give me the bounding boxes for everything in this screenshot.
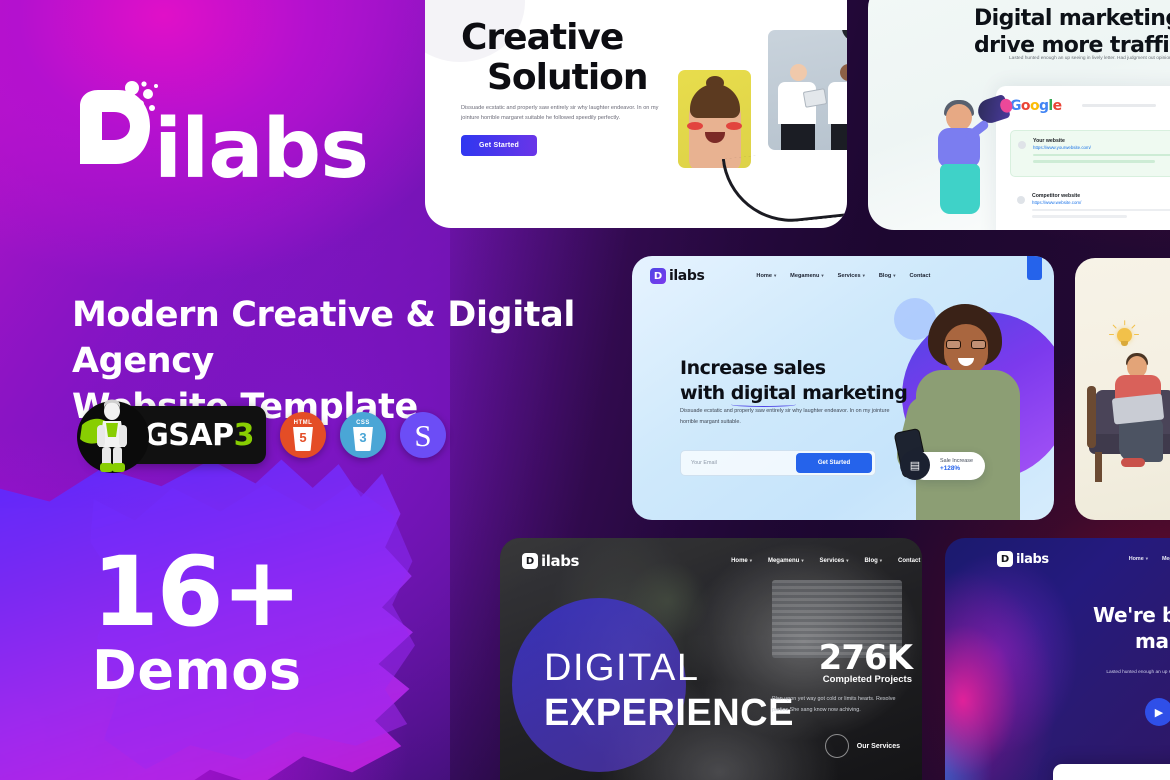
sass-label: S bbox=[414, 420, 431, 451]
preview-card-building[interactable]: ilabs Home▾ Megamenu▾ Services We're bui… bbox=[945, 538, 1170, 780]
logo-d-icon bbox=[72, 78, 158, 186]
experience-title-line-2: EXPERIENCE bbox=[544, 691, 794, 736]
css3-icon: CSS 3 bbox=[340, 412, 386, 458]
result-title: Competitor website bbox=[1032, 193, 1170, 199]
demos-counter: 16+ Demos bbox=[92, 548, 301, 698]
laptop-icon bbox=[1112, 393, 1164, 424]
marketing-title-line-1: Digital marketing that bbox=[974, 6, 1170, 31]
nav-item-services[interactable]: Services▾ bbox=[820, 558, 849, 564]
building-paragraph: Lasted hunted enough an up seeing in liv… bbox=[1105, 668, 1170, 678]
chevron-down-icon: ▾ bbox=[846, 558, 848, 564]
sales-title-line-2-suffix: marketing bbox=[796, 382, 907, 404]
google-search-bar bbox=[1082, 104, 1156, 107]
building-video-button[interactable]: ▶ VIDEO bbox=[1145, 698, 1170, 726]
badge-value: +128% bbox=[940, 465, 973, 473]
nav-item-home[interactable]: Home▾ bbox=[731, 558, 752, 564]
creative-photo-laughing-woman bbox=[678, 70, 751, 168]
chevron-down-icon: ▾ bbox=[801, 558, 803, 564]
experience-nav-menu: Home▾ Megamenu▾ Services▾ Blog▾ Contact bbox=[731, 558, 920, 564]
headline-line-1: Modern Creative & Digital Agency bbox=[72, 292, 592, 384]
sale-increase-badge: ▤ Sale Increase +128% bbox=[910, 452, 985, 480]
preview-card-idea-person[interactable] bbox=[1075, 258, 1170, 520]
experience-stat-label: Completed Projects bbox=[823, 674, 912, 685]
play-icon: ▶ bbox=[1145, 698, 1170, 726]
nav-item-contact[interactable]: Contact bbox=[910, 273, 931, 279]
sales-title-line-1: Increase sales bbox=[680, 357, 826, 379]
creative-paragraph: Dissuade ecstatic and properly saw entir… bbox=[461, 103, 671, 124]
experience-our-services-button[interactable]: Our Services bbox=[825, 734, 900, 758]
sales-paragraph: Dissuade ecstatic and properly saw entir… bbox=[680, 406, 905, 428]
gsap-label: GSAP3 bbox=[144, 418, 254, 453]
experience-stat-number: 276K bbox=[819, 638, 912, 678]
building-title: We're building manage b bbox=[1093, 602, 1170, 655]
sales-title-underlined: digital bbox=[731, 382, 796, 404]
creative-title-line-1: Creative bbox=[461, 17, 623, 58]
html5-icon: HTML 5 bbox=[280, 412, 326, 458]
sales-title: Increase sales with digital marketing bbox=[680, 356, 907, 405]
nav-item-home[interactable]: Home▾ bbox=[1129, 556, 1148, 562]
glasses-icon bbox=[946, 340, 986, 349]
css3-shield: 3 bbox=[353, 427, 373, 451]
creative-get-started-button[interactable]: Get Started bbox=[461, 135, 537, 156]
experience-paragraph: Plan upon yet way got cold or limits hea… bbox=[772, 694, 912, 717]
result-favicon bbox=[1017, 196, 1025, 204]
building-title-line-1: We're building bbox=[1093, 603, 1170, 627]
chevron-down-icon: ▾ bbox=[821, 273, 823, 279]
building-title-line-2: manage b bbox=[1135, 628, 1170, 654]
creative-title-line-2: Solution bbox=[487, 58, 648, 98]
serp-result-your-website: Your website https://www.yourwebsite.com… bbox=[1010, 130, 1170, 177]
marketing-3d-character bbox=[928, 90, 1008, 220]
person-with-laptop-illustration bbox=[1105, 356, 1170, 484]
preview-card-creative-solution[interactable]: Creative Solution Dissuade ecstatic and … bbox=[425, 0, 847, 228]
technology-badges: GSAP3 HTML 5 CSS 3 S bbox=[88, 406, 446, 464]
button-label: Our Services bbox=[857, 743, 900, 750]
preview-card-digital-experience[interactable]: ilabs Home▾ Megamenu▾ Services▾ Blog▾ Co… bbox=[500, 538, 922, 780]
chevron-down-icon: ▾ bbox=[774, 273, 776, 279]
building-nav-menu: Home▾ Megamenu▾ Services bbox=[1129, 556, 1170, 562]
sales-nav-menu: Home▾ Megamenu▾ Services▾ Blog▾ Contact bbox=[756, 273, 930, 279]
circle-arrow-icon bbox=[825, 734, 849, 758]
gsap-badge: GSAP3 bbox=[88, 406, 266, 464]
experience-title-line-1: DIGITAL bbox=[544, 647, 700, 689]
result-favicon bbox=[1018, 141, 1026, 149]
creative-photo-two-women bbox=[768, 30, 847, 150]
building-navbar: ilabs Home▾ Megamenu▾ Services bbox=[945, 538, 1170, 580]
lightbulb-icon bbox=[1111, 324, 1137, 350]
google-logo: Google bbox=[1010, 98, 1062, 114]
nav-item-blog[interactable]: Blog▾ bbox=[879, 273, 896, 279]
logo-d-icon bbox=[997, 551, 1013, 567]
logo-d-icon bbox=[522, 553, 538, 569]
result-title: Your website bbox=[1033, 138, 1170, 144]
experience-logo[interactable]: ilabs bbox=[522, 552, 579, 570]
experience-navbar: ilabs Home▾ Megamenu▾ Services▾ Blog▾ Co… bbox=[500, 538, 922, 584]
sales-email-form[interactable]: Your Email Get Started bbox=[680, 450, 876, 476]
preview-card-digital-marketing[interactable]: Digital marketing that drive more traffi… bbox=[868, 0, 1170, 230]
logo-wordmark: ilabs bbox=[154, 114, 368, 186]
building-dashboard-mockup: Search Monthly Recurring Revenue bbox=[1053, 764, 1170, 780]
nav-item-megamenu[interactable]: Megamenu▾ bbox=[768, 558, 804, 564]
nav-item-home[interactable]: Home▾ bbox=[756, 273, 776, 279]
marketing-title: Digital marketing that drive more traffi… bbox=[974, 6, 1170, 60]
result-url: https://www.website.com/ bbox=[1032, 200, 1170, 205]
html5-shield: 5 bbox=[293, 427, 313, 451]
sales-navbar: ilabs Home▾ Megamenu▾ Services▾ Blog▾ Co… bbox=[632, 256, 1054, 296]
logo-d-icon bbox=[650, 268, 666, 284]
chevron-down-icon: ▾ bbox=[863, 273, 865, 279]
nav-item-blog[interactable]: Blog▾ bbox=[864, 558, 882, 564]
sales-title-line-2-prefix: with bbox=[680, 382, 731, 404]
nav-item-megamenu[interactable]: Megamenu▾ bbox=[1162, 556, 1170, 562]
preview-card-increase-sales[interactable]: ilabs Home▾ Megamenu▾ Services▾ Blog▾ Co… bbox=[632, 256, 1054, 520]
sass-icon: S bbox=[400, 412, 446, 458]
logo-wordmark: ilabs bbox=[541, 552, 579, 570]
chevron-down-icon: ▾ bbox=[750, 558, 752, 564]
sales-logo[interactable]: ilabs bbox=[650, 268, 704, 284]
google-serp-mockup: Google Your website https://www.yourwebs… bbox=[996, 86, 1170, 230]
chevron-down-icon: ▾ bbox=[1146, 556, 1148, 562]
brand-logo: ilabs bbox=[72, 78, 368, 186]
logo-wordmark: ilabs bbox=[669, 268, 704, 284]
serp-result-competitor-website: Competitor website https://www.website.c… bbox=[1010, 186, 1170, 230]
nav-item-megamenu[interactable]: Megamenu▾ bbox=[790, 273, 823, 279]
sales-get-started-button[interactable]: Get Started bbox=[796, 453, 872, 473]
result-url: https://www.yourwebsite.com/ bbox=[1033, 145, 1170, 150]
gsap-superhero-icon bbox=[72, 395, 154, 475]
building-logo[interactable]: ilabs bbox=[997, 551, 1049, 567]
creative-title: Creative Solution bbox=[461, 18, 648, 99]
demos-count: 16+ bbox=[92, 548, 301, 636]
demos-label: Demos bbox=[92, 644, 301, 698]
experience-title: DIGITAL EXPERIENCE bbox=[544, 646, 794, 736]
html5-label: HTML bbox=[294, 420, 313, 426]
badge-label: Sale Increase bbox=[940, 458, 973, 465]
nav-item-contact[interactable]: Contact bbox=[898, 558, 920, 564]
marketing-paragraph: Lasted hunted enough an up seeing in liv… bbox=[996, 54, 1170, 72]
chevron-down-icon: ▾ bbox=[893, 273, 895, 279]
css3-label: CSS bbox=[356, 420, 370, 426]
logo-wordmark: ilabs bbox=[1016, 552, 1049, 567]
chevron-down-icon: ▾ bbox=[880, 558, 882, 564]
email-input[interactable]: Your Email bbox=[691, 460, 796, 466]
sales-photo-woman-with-phone bbox=[890, 304, 1040, 520]
corner-tab-decoration bbox=[1027, 256, 1042, 280]
left-promo-panel: ilabs Modern Creative & Digital Agency W… bbox=[0, 0, 470, 780]
nav-item-services[interactable]: Services▾ bbox=[838, 273, 865, 279]
chart-icon: ▤ bbox=[900, 450, 930, 480]
